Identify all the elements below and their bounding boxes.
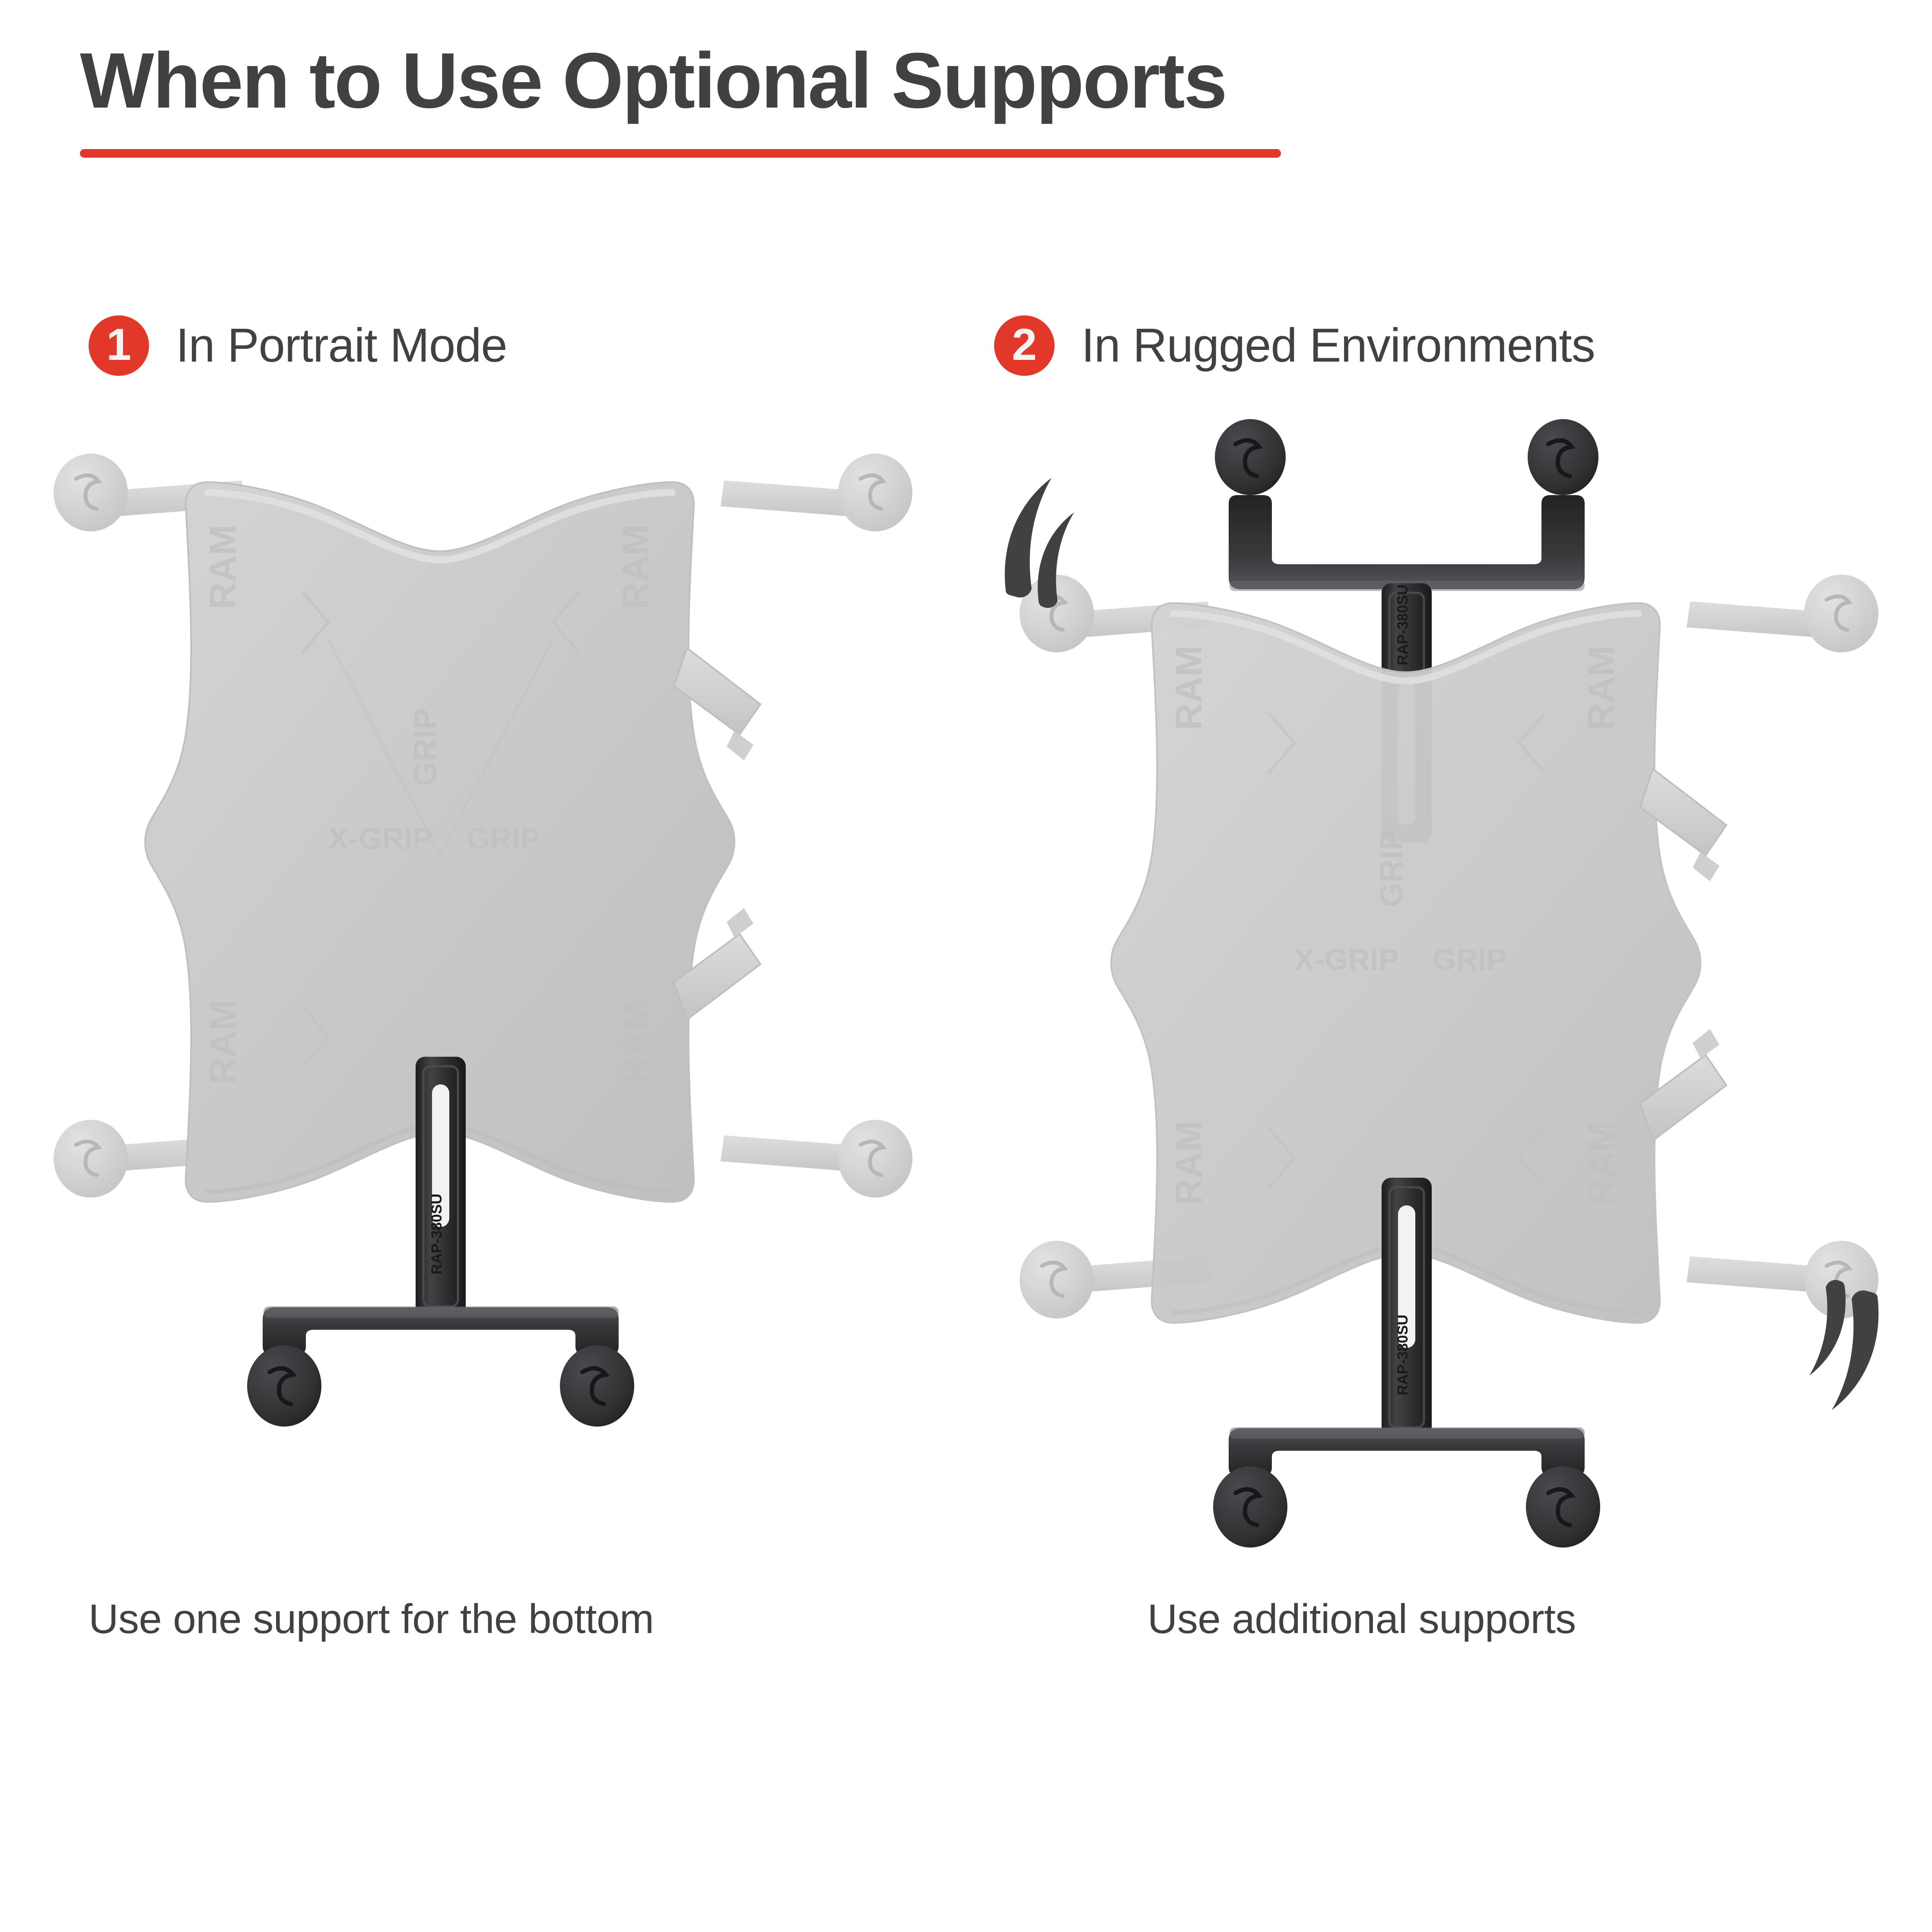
emboss-ram-br: RAM <box>1581 1121 1622 1205</box>
step-caption-2: Use additional supports <box>1147 1598 1576 1640</box>
emboss-ram-tl: RAM <box>202 524 244 609</box>
ball-foot-right <box>560 1345 634 1427</box>
ball-foot-left <box>247 1345 321 1427</box>
step-label-2: In Rugged Environments <box>1081 322 1595 369</box>
emboss-ram-tr: RAM <box>615 524 656 609</box>
ball-foot-top-right <box>1528 419 1598 495</box>
emboss-grip-center: GRIP <box>407 708 443 786</box>
emboss-ram-tl: RAM <box>1168 645 1210 730</box>
emboss-xgrip-right: GRIP <box>467 822 540 855</box>
step-caption-1: Use one support for the bottom <box>89 1598 654 1640</box>
emboss-xgrip-left: X-GRIP <box>328 822 432 855</box>
emboss-xgrip-right: GRIP <box>1433 943 1506 976</box>
header: When to Use Optional Supports <box>80 39 1851 158</box>
illustration-step-1: RAM RAM RAM RAM GRIP X-GRIP GRIP <box>0 406 966 1581</box>
ball-foot-left <box>1213 1466 1287 1548</box>
emboss-part-number-bottom: RAP-380SU <box>429 1194 445 1274</box>
emboss-xgrip-left: X-GRIP <box>1294 943 1398 976</box>
step-column-2: 2 In Rugged Environments <box>966 302 1932 1771</box>
emboss-ram-tr: RAM <box>1581 645 1622 730</box>
step-number-badge-2: 2 <box>994 315 1055 376</box>
emboss-part-number-bottom: RAP-380SU <box>1395 1315 1411 1395</box>
step-number-badge-1: 1 <box>89 315 149 376</box>
step-column-1: 1 In Portrait Mode <box>0 302 966 1771</box>
emboss-grip-center: GRIP <box>1373 829 1409 907</box>
infographic-page: When to Use Optional Supports 1 In Portr… <box>0 0 1932 1932</box>
step-heading-1: 1 In Portrait Mode <box>89 315 507 376</box>
step-heading-2: 2 In Rugged Environments <box>994 315 1595 376</box>
illustration-step-2: RAP-380SU <box>966 406 1932 1581</box>
emboss-ram-bl: RAM <box>1168 1121 1210 1205</box>
steps-container: 1 In Portrait Mode <box>0 302 1932 1771</box>
emboss-part-number-top: RAP-380SU <box>1395 585 1411 665</box>
emboss-ram-br: RAM <box>615 1000 656 1084</box>
ball-foot-right <box>1526 1466 1600 1548</box>
step-label-1: In Portrait Mode <box>176 322 507 369</box>
page-title: When to Use Optional Supports <box>80 39 1851 122</box>
emboss-ram-bl: RAM <box>202 1000 244 1084</box>
ball-foot-top-left <box>1215 419 1286 495</box>
title-underline-rule <box>80 149 1281 158</box>
